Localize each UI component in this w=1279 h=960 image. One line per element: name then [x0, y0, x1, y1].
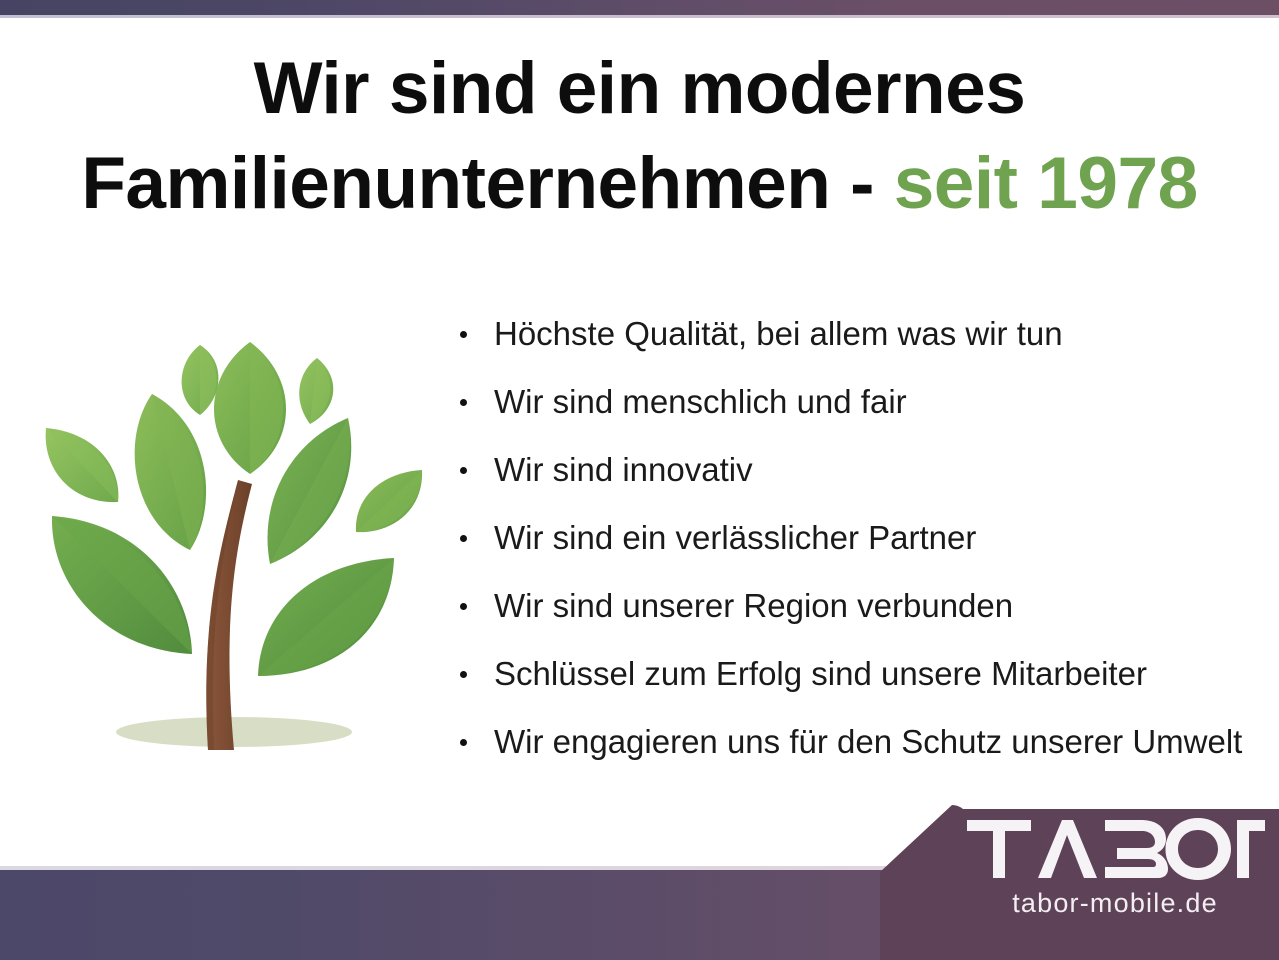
leaf-lower-right [258, 558, 394, 676]
list-item: Wir sind ein verlässlicher Partner [452, 504, 1272, 572]
top-accent-hairline [0, 15, 1279, 18]
leaf-upper-right [267, 418, 351, 564]
list-item: Wir sind innovativ [452, 436, 1272, 504]
leaf-left-small [46, 428, 119, 502]
list-item: Wir engagieren uns für den Schutz unsere… [452, 708, 1272, 776]
value-bullet-list: Höchste Qualität, bei allem was wir tun … [452, 300, 1272, 776]
leaf-upper-left [135, 394, 206, 550]
tabor-wordmark [965, 818, 1265, 880]
list-item: Wir sind menschlich und fair [452, 368, 1272, 436]
logo-text-wrap: tabor-mobile.de [860, 800, 1279, 960]
list-item: Höchste Qualität, bei allem was wir tun [452, 300, 1272, 368]
title-line-1: Wir sind ein modernes [0, 52, 1279, 125]
leaf-top-right-small [299, 358, 333, 424]
page-title: Wir sind ein modernes Familienunternehme… [0, 52, 1279, 220]
slide: Wir sind ein modernes Familienunternehme… [0, 0, 1279, 960]
leaf-right-small [356, 470, 422, 532]
logo-tagline: tabor-mobile.de [965, 888, 1265, 919]
list-item: Schlüssel zum Erfolg sind unsere Mitarbe… [452, 640, 1272, 708]
leaf-top-center [214, 342, 286, 474]
title-accent-year: seit 1978 [894, 143, 1198, 224]
title-line-2-plain: Familienunternehmen - [81, 143, 893, 224]
title-line-2: Familienunternehmen - seit 1978 [0, 147, 1279, 220]
list-item: Wir sind unserer Region verbunden [452, 572, 1272, 640]
leaf-top-left-small [182, 345, 219, 415]
tree-shadow [116, 717, 352, 747]
tree-icon [22, 332, 442, 764]
logo-panel: tabor-mobile.de [860, 800, 1279, 960]
top-accent-bar [0, 0, 1279, 15]
